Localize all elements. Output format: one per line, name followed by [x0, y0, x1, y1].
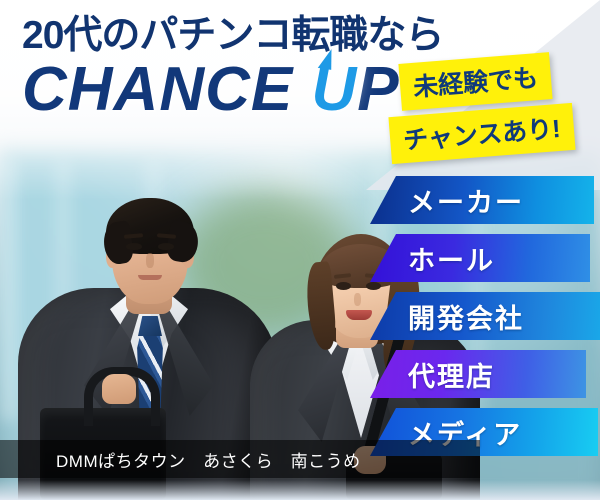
- man-mouth: [138, 275, 162, 280]
- woman-nose: [354, 293, 361, 306]
- woman-eye-left: [336, 282, 351, 290]
- man-eye-right: [158, 243, 174, 250]
- category-label: 開発会社: [408, 297, 524, 336]
- badge-line-1: 未経験でも: [398, 52, 552, 111]
- category-label: 代理店: [408, 355, 495, 394]
- man-hand: [102, 374, 136, 404]
- headline-u-letter: U: [311, 59, 357, 121]
- woman-mouth: [346, 310, 372, 320]
- badge-line-2: チャンスあり!: [388, 103, 575, 164]
- credit-strip: DMMぱちタウン あさくら 南こうめ: [0, 440, 480, 478]
- category-label: メーカー: [408, 181, 524, 220]
- highlight-badge: 未経験でも チャンスあり!: [390, 58, 598, 157]
- category-label: ホール: [408, 239, 495, 278]
- recruitment-banner[interactable]: 20代のパチンコ転職なら CHANCE U P 未経験でも チャンスあり! メー…: [0, 0, 600, 500]
- bottom-fade: [0, 480, 600, 500]
- category-button-agency[interactable]: 代理店: [370, 350, 586, 398]
- category-button-hall[interactable]: ホール: [370, 234, 590, 282]
- headline-chance-word: CHANCE: [22, 55, 293, 124]
- credit-text: DMMぱちタウン あさくら 南こうめ: [0, 447, 361, 472]
- headline-line-1: 20代のパチンコ転職なら: [22, 16, 472, 55]
- category-button-development-company[interactable]: 開発会社: [370, 292, 600, 340]
- man-eye-left: [126, 243, 142, 250]
- category-list: メーカー ホール 開発会社 代理店 メディア: [370, 176, 600, 466]
- category-button-maker[interactable]: メーカー: [370, 176, 594, 224]
- man-nose: [146, 253, 154, 268]
- man-hair-side-right: [165, 220, 201, 264]
